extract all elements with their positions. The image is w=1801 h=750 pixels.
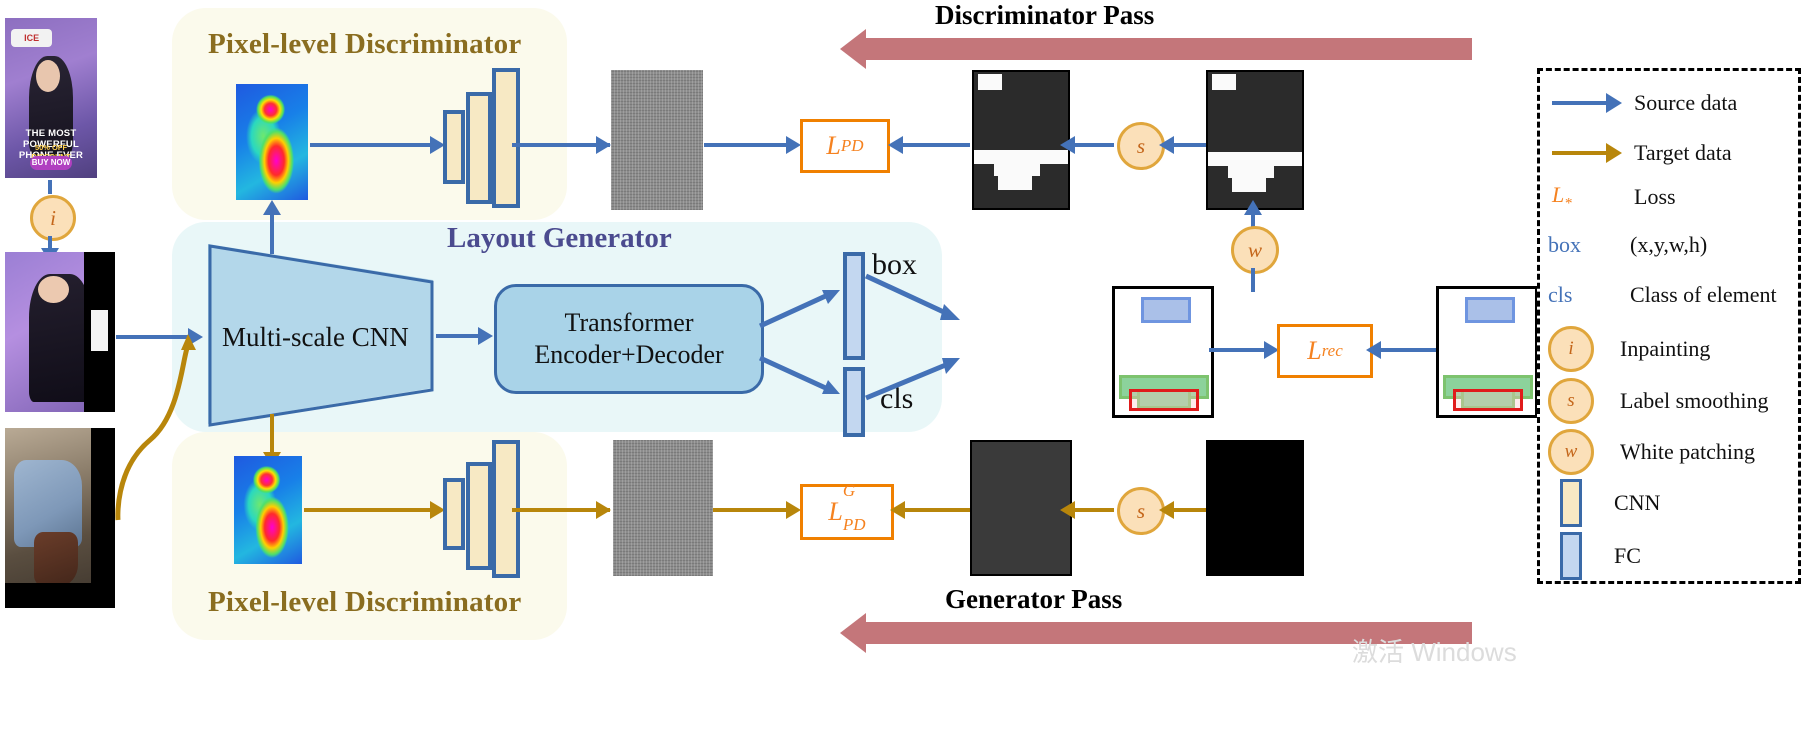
arrows-transformer-to-fc [756, 280, 856, 410]
fc-bar-icon [1560, 532, 1582, 580]
legend-row-cnn: CNN [1560, 479, 1660, 527]
circle-w-icon: w [1548, 429, 1594, 475]
arrow-graymap-to-loss-top [704, 143, 792, 147]
ad-face [36, 60, 60, 92]
rawmask-white-top-left [1212, 74, 1236, 90]
cnn-bar-bottom-2 [466, 462, 492, 570]
legend-label-fc: FC [1614, 543, 1641, 569]
legend-row-target-data: Target data [1552, 140, 1732, 166]
cnn-bar-top-1 [443, 110, 465, 184]
loss-rec-sub: rec [1322, 341, 1343, 361]
arrowhead-whitepatching-up [1244, 200, 1262, 215]
legend-row-cls: cls Class of element [1548, 282, 1777, 308]
arrow-smoothing-to-mask-bottom [1072, 508, 1114, 512]
mask-white-top-left [978, 74, 1002, 90]
legend-row-source-data: Source data [1552, 90, 1737, 116]
arrow-mask-to-loss-top [900, 143, 970, 147]
arrow-gt-to-lrec-right [1378, 348, 1436, 352]
arrowhead-gt-to-lrec-right [1366, 341, 1381, 359]
cnn-bar-bottom-1 [443, 478, 465, 550]
cnn-bar-top-3 [492, 68, 520, 208]
loss-pd-g-sub: PD [843, 515, 866, 534]
arrow-layout-to-lrec-left [1209, 348, 1271, 352]
target-photo-image [5, 428, 115, 608]
loss-pd-g-box: LGPD [800, 484, 894, 540]
arrow-cnn-down-gold-line [270, 414, 274, 456]
ad-logo: ICE [11, 29, 51, 47]
arrowhead-mask-to-loss-bottom [890, 501, 905, 519]
legend-label-cnn: CNN [1614, 490, 1660, 516]
arrows-fc-to-layout [862, 272, 972, 412]
loss-rec-base: L [1307, 336, 1321, 366]
mask-image-smoothed-bottom [970, 440, 1072, 576]
photo-boot [34, 532, 78, 586]
loss-pd-g-base: L [828, 497, 842, 527]
arrow-mask-to-loss-bottom [902, 508, 970, 512]
loss-pd-box: LPD [800, 119, 890, 173]
source-ad-image: ICE THE MOST POWERFUL PHONE EVER 50% OFF… [5, 18, 97, 178]
heatmap-bottom [234, 456, 302, 564]
cnn-bar-icon [1560, 479, 1582, 527]
cnn-bar-top-2 [466, 92, 492, 204]
layout-blue-box-generated [1141, 297, 1191, 323]
arrow-heatmap-to-cnn-top [310, 143, 434, 147]
mask-image-smoothed [972, 70, 1070, 210]
legend-loss-key: L [1552, 182, 1564, 207]
legend-row-white-patching: w White patching [1548, 429, 1755, 475]
inpainting-op-circle: i [30, 195, 76, 241]
ad-cta-button: BUY NOW [30, 156, 72, 170]
legend-label-loss: Loss [1634, 184, 1676, 210]
arrowhead-mask-to-loss-top [888, 136, 903, 154]
legend-row-fc: FC [1560, 532, 1641, 580]
inpainted-face [38, 276, 69, 303]
arrowhead-graymap-to-loss-top [786, 136, 801, 154]
layout-red-box-generated [1129, 389, 1199, 411]
arrowhead-graymap-to-loss-bottom [786, 501, 801, 519]
arrow-graymap-to-loss-bottom [713, 508, 793, 512]
circle-s-icon: s [1548, 378, 1594, 424]
arrow-ad-to-inpainting [48, 180, 52, 194]
discriminator-pass-arrow [866, 38, 1472, 60]
transformer-label-line2: Encoder+Decoder [534, 339, 723, 372]
header-layout-generator: Layout Generator [447, 222, 672, 255]
header-discriminator-pass: Discriminator Pass [935, 0, 1154, 31]
header-generator-pass: Generator Pass [945, 584, 1122, 615]
legend-label-cls: Class of element [1630, 282, 1777, 308]
arrow-cnn-to-transformer [436, 334, 481, 338]
loss-pd-sub: PD [841, 136, 864, 156]
legend-label-source-data: Source data [1634, 90, 1737, 116]
arrowhead-smoothing-to-mask-bottom [1060, 501, 1075, 519]
windows-activation-watermark: 激活 Windows [1352, 632, 1517, 669]
mask-white-block-2 [998, 176, 1032, 190]
layout-mockup-generated [1112, 286, 1214, 418]
legend-box-key: box [1548, 232, 1608, 258]
blue-arrow-icon [1552, 101, 1608, 105]
photo-black-bottom [5, 583, 115, 608]
arrowhead-cnn-to-transformer [478, 327, 493, 345]
rawmask-white-block-1 [1228, 166, 1274, 178]
layout-red-box-groundtruth [1453, 389, 1523, 411]
arrow-smoothing-to-mask-top [1072, 143, 1114, 147]
legend-row-inpainting: i Inpainting [1548, 326, 1710, 372]
legend-label-target-data: Target data [1634, 140, 1732, 166]
loss-pd-g-sup: G [843, 481, 855, 501]
mask-white-band [974, 150, 1068, 164]
arrowhead-cnn-to-top-heatmap [263, 200, 281, 215]
arrow-cnn-to-top-heatmap [270, 212, 274, 254]
arrowhead-smoothing-to-mask-top [1060, 136, 1075, 154]
arrowhead-rawmask-to-smoothing-top [1159, 136, 1174, 154]
inpainted-image [5, 252, 115, 412]
transformer-block: Transformer Encoder+Decoder [494, 284, 764, 394]
arrowhead-cnn-to-graymap-bottom [596, 501, 611, 519]
legend-row-loss: L* Loss [1552, 182, 1676, 212]
loss-pd-base: L [826, 131, 840, 161]
transformer-label-line1: Transformer [534, 307, 723, 340]
white-patching-circle: w [1231, 226, 1279, 274]
legend-loss-keysub: * [1564, 195, 1572, 211]
legend-label-inpainting: Inpainting [1620, 336, 1710, 362]
header-pixel-discriminator-top: Pixel-level Discriminator [208, 28, 521, 61]
mask-image-raw-top [1206, 70, 1304, 210]
rawmask-white-block-2 [1232, 178, 1266, 192]
arrow-heatmap-to-cnn-bottom [304, 508, 434, 512]
legend-label-white-patching: White patching [1620, 439, 1755, 465]
inpainted-white-patch [91, 310, 109, 352]
legend-label-box: (x,y,w,h) [1630, 232, 1707, 258]
legend-cls-key: cls [1548, 282, 1608, 308]
legend-row-label-smoothing: s Label smoothing [1548, 378, 1768, 424]
gray-feature-map-top [611, 70, 703, 210]
mask-image-black-bottom [1206, 440, 1304, 576]
mask-white-block-1 [994, 164, 1040, 176]
gray-feature-map-bottom [613, 440, 713, 576]
arrow-layout-to-whitepatching [1251, 268, 1255, 292]
layout-mockup-groundtruth [1436, 286, 1538, 418]
legend-label-label-smoothing: Label smoothing [1620, 388, 1768, 414]
loss-rec-box: Lrec [1277, 324, 1373, 378]
multi-scale-cnn-label: Multi-scale CNN [222, 322, 409, 353]
header-pixel-discriminator-bottom: Pixel-level Discriminator [208, 586, 521, 619]
arrowhead-cnn-to-graymap-top [596, 136, 611, 154]
gold-arrow-icon [1552, 151, 1608, 155]
label-smoothing-circle-top: s [1117, 122, 1165, 170]
legend-row-box: box (x,y,w,h) [1548, 232, 1707, 258]
circle-i-icon: i [1548, 326, 1594, 372]
layout-blue-box-groundtruth [1465, 297, 1515, 323]
label-smoothing-circle-bottom: s [1117, 487, 1165, 535]
loss-symbol-icon: L* [1552, 182, 1608, 212]
arrow-target-to-cnn [110, 320, 210, 540]
rawmask-white-band [1208, 152, 1302, 166]
arrowhead-blackmask-to-smoothing-bottom [1159, 501, 1174, 519]
heatmap-top [236, 84, 308, 200]
